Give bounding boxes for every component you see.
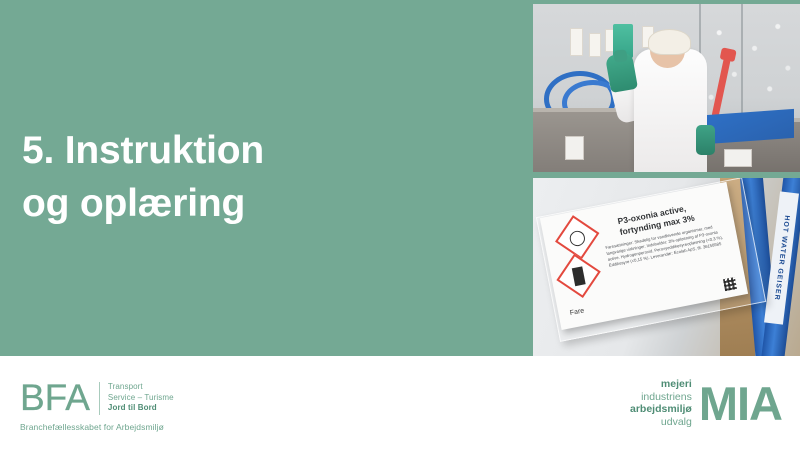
tank-label bbox=[565, 136, 584, 160]
mia-wordmark: MIA bbox=[699, 380, 782, 427]
title-line-1: 5. Instruktion bbox=[22, 124, 492, 177]
worker-green-glove-lowered bbox=[696, 125, 715, 155]
bfa-subline-jord-til-bord: Jord til Bord bbox=[108, 403, 174, 414]
mia-word-udvalg: udvalg bbox=[630, 416, 692, 429]
bfa-subline-service-turisme: Service – Turisme bbox=[108, 393, 174, 404]
bfa-wordmark: BFA bbox=[20, 380, 90, 416]
page-title: 5. Instruktion og oplæring bbox=[22, 124, 492, 230]
mia-logo: mejeri industriens arbejdsmiljø udvalg M… bbox=[630, 378, 782, 428]
footer: BFA Transport Service – Turisme Jord til… bbox=[0, 356, 800, 450]
slide-root: 5. Instruktion og oplæring bbox=[0, 0, 800, 450]
wall-note bbox=[570, 28, 583, 56]
photo-column: HOT WATER GEISER ◯ █ P3-oxonia active, f… bbox=[533, 0, 800, 356]
mia-word-mejeri: mejeri bbox=[630, 378, 692, 391]
mia-wordlines: mejeri industriens arbejdsmiljø udvalg bbox=[630, 378, 699, 428]
wall-seam bbox=[741, 4, 743, 122]
bfa-tagline: Branchefællesskabet for Arbejdsmiljø bbox=[20, 422, 164, 432]
photo-hazard-label: HOT WATER GEISER ◯ █ P3-oxonia active, f… bbox=[533, 178, 800, 356]
mia-word-arbejdsmiljo: arbejdsmiljø bbox=[630, 403, 692, 416]
wall-note bbox=[589, 33, 601, 57]
mia-word-industriens: industriens bbox=[630, 391, 692, 404]
bfa-logo: BFA Transport Service – Turisme Jord til… bbox=[20, 380, 174, 416]
bfa-subline-transport: Transport bbox=[108, 382, 174, 393]
bfa-sublines: Transport Service – Turisme Jord til Bor… bbox=[108, 380, 174, 414]
title-line-2: og oplæring bbox=[22, 177, 492, 230]
bfa-divider bbox=[99, 382, 100, 415]
photo-worker-thumbs-up bbox=[533, 4, 800, 172]
worker-hairnet bbox=[648, 29, 691, 55]
tank-label bbox=[724, 149, 752, 167]
